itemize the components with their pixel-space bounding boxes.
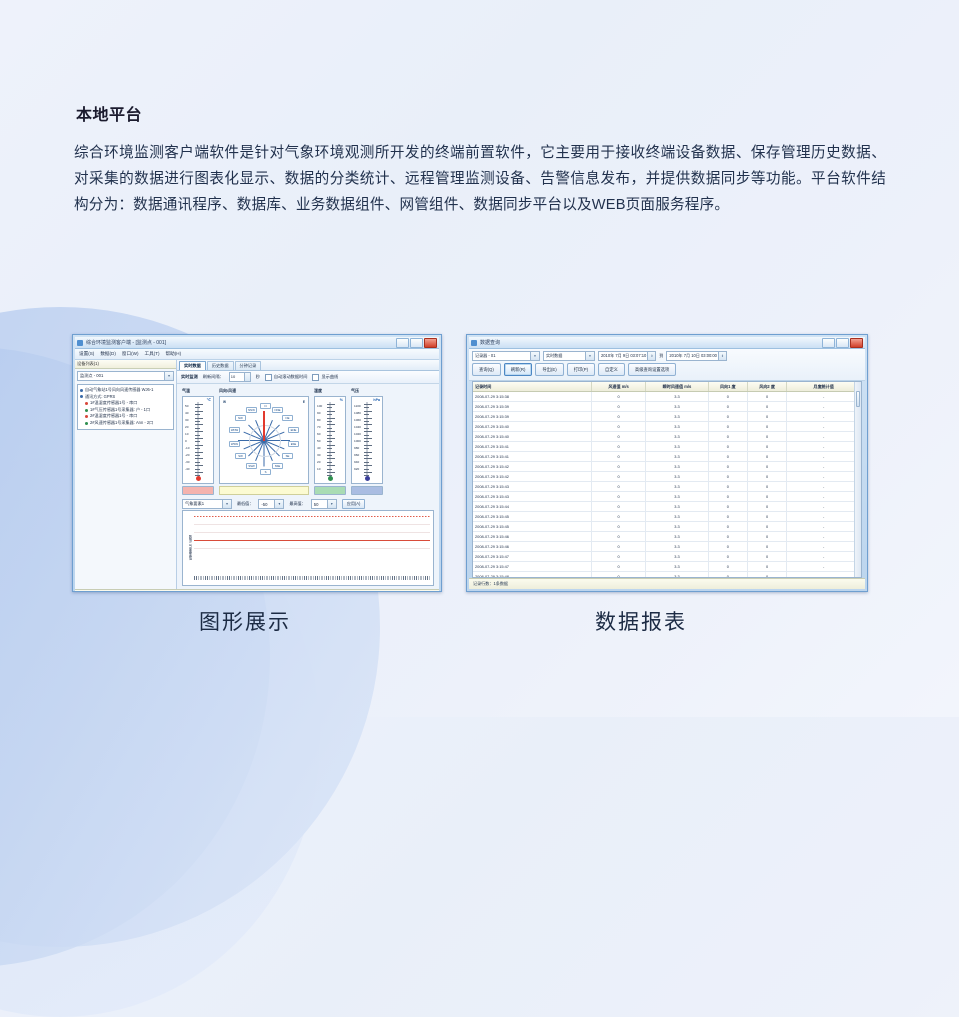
recorder-select-value: 记录器 - 01 [475,353,495,358]
tree-item[interactable]: 1#温湿度传感器1号 - 串口 [80,400,171,407]
table-cell: - [787,512,861,521]
table-cell: 0 [592,522,647,531]
menu-item-window[interactable]: 窗口(W) [122,351,139,357]
device-tree[interactable]: 自动气象站1号风向风速传感器 WJ6-1 通讯方式: GPRS 1#温湿度传感器… [77,384,174,430]
thermometer-tick [327,435,332,436]
thermometer-tick [364,469,369,470]
tick-label: 1060 [354,419,361,422]
column-header-time[interactable]: 记录时间 [473,382,592,391]
tree-item[interactable]: 通讯方式: GPRS [80,394,171,401]
table-cell: - [787,572,861,577]
table-cell: - [787,452,861,461]
app-icon [471,340,477,346]
table-cell: 3.3 [646,432,708,441]
table-cell: 0 [709,392,748,401]
table-cell: 0 [592,532,647,541]
tick-label: 960 [354,454,359,457]
table-cell: 0 [748,472,787,481]
chevron-down-icon[interactable]: ▾ [585,352,594,360]
station-select[interactable]: 监测点 - 001 ▾ [77,371,174,381]
status-dot-icon [85,422,88,425]
table-cell: 3.3 [646,502,708,511]
minimize-icon[interactable] [396,338,409,348]
custom-button[interactable]: 自定义 [598,363,625,376]
caption-graph-display: 图形展示 [199,606,291,636]
tick-label: 60 [317,433,320,436]
table-cell: 0 [592,512,647,521]
auto-scroll-label: 自动滚动数据时间 [274,374,308,380]
table-cell: 3.3 [646,412,708,421]
table-cell: 2008-07-29 3:15:39 [473,412,592,421]
menu-item-help[interactable]: 帮助(H) [166,351,182,357]
rose-corner-label: W [223,400,226,404]
caption-data-report: 数据报表 [595,606,687,636]
graph-window[interactable]: 综合环境监测客户端 - [监测点 - 001] 设置(S) 数据(D) 窗口(W… [72,334,442,592]
chevron-down-icon[interactable]: ▾ [327,500,336,508]
graph-main-panel: 实时数据 历史数据 分钟记录 实时监测 刷新间隔： 10 秒 自动滚动数据时间 [177,360,439,589]
thermometer-tick [327,404,335,405]
table-cell: 0 [592,442,647,451]
thermometer-tick [195,458,203,459]
app-icon [77,340,83,346]
table-row[interactable]: 2008-07-29 3:15:3803.300- [473,392,861,402]
thermometer-tick [195,465,203,466]
table-row[interactable]: 2008-07-29 3:15:4603.300- [473,532,861,542]
graph-tabs[interactable]: 实时数据 历史数据 分钟记录 [177,360,439,371]
dir-pill: NNE [272,407,283,413]
tick-label: 1080 [354,412,361,415]
thermometer-tick [327,445,335,446]
thermometer-tick [195,407,200,408]
thermometer-tick [195,404,203,405]
table-row[interactable]: 2008-07-29 3:15:4203.300- [473,472,861,482]
thermometer-tick [364,435,369,436]
table-cell: 0 [709,572,748,577]
chevron-down-icon[interactable]: ▾ [222,500,231,508]
chart-apply-button[interactable]: 应用(A) [342,499,366,509]
minimize-icon[interactable] [822,338,835,348]
grid-body[interactable]: 2008-07-29 3:15:3803.300-2008-07-29 3:15… [473,392,861,577]
tick-label: -30 [185,461,189,464]
graph-body: 设备列表(1) 监测点 - 001 ▾ 自动气象站1号风向风速传感器 WJ6-1… [75,360,439,589]
thermometer-tick [364,452,372,453]
thermometer-tick [195,469,200,470]
table-row[interactable]: 2008-07-29 3:15:4503.300- [473,522,861,532]
table-row[interactable]: 2008-07-29 3:15:4503.300- [473,512,861,522]
thermometer-tick [364,424,372,425]
window-controls[interactable] [822,338,863,348]
thermometer-tick [364,414,369,415]
table-cell: 3.3 [646,472,708,481]
table-cell: 0 [709,422,748,431]
temperature-thermometer: ℃ 50 40 30 20 10 0 -10 -20 -30 -40 [182,396,214,484]
thermometer-tick [327,431,335,432]
report-status-text: 记录行数：1条数据 [473,581,508,587]
tree-item[interactable]: 自动气象站1号风向风速传感器 WJ6-1 [80,387,171,394]
column-header-monthly[interactable]: 月度统计值 [787,382,861,391]
table-cell: - [787,552,861,561]
chart-max-label: 最高值： [289,501,305,507]
table-cell: 0 [709,502,748,511]
wind-gauge: 风向/风速 W E N NNE NE ENE ESE SE SSE S [219,388,309,495]
thermometer-tick [195,452,203,453]
end-date-input[interactable]: 2010年 7月 10日 03:00:00 ⇕ [666,351,727,361]
table-cell: 0 [748,402,787,411]
tree-item-label: 通讯方式: GPRS [85,394,115,401]
table-row[interactable]: 2008-07-29 3:15:4003.300- [473,432,861,442]
thermometer-tick [327,441,332,442]
thermometer-tick [195,475,200,476]
table-cell: 2008-07-29 3:15:43 [473,492,592,501]
table-cell: 0 [592,422,647,431]
humidity-gauge: 湿度 % 100 90 80 70 60 50 40 30 20 [314,388,346,495]
thermometer-tick [364,438,372,439]
table-cell: 0 [709,472,748,481]
interval-stepper[interactable]: 10 [229,372,251,382]
advanced-settings-button[interactable]: 高级查询设置选项 [628,363,676,376]
tick-label: 50 [185,405,188,408]
table-cell: 0 [709,462,748,471]
menu-item-settings[interactable]: 设置(S) [79,351,94,357]
tree-item-label: 1#温湿度传感器1号 - 串口 [90,400,137,407]
table-cell: 0 [748,502,787,511]
report-window-title: 数据查询 [480,339,500,346]
report-data-grid[interactable]: 记录时间 风速值 m/s 瞬时风速值 m/s 风向1 度 风向2 度 月度统计值… [472,381,862,578]
chart-min-label: 最低值： [237,501,253,507]
date-range-label: 到 [659,353,663,359]
chevron-down-icon[interactable]: ▾ [274,500,283,508]
chart-max-value: 50 [314,502,319,507]
auto-scroll-checkbox[interactable]: 自动滚动数据时间 [265,374,308,381]
table-cell: 3.3 [646,402,708,411]
table-cell: 2008-07-29 3:15:44 [473,502,592,511]
thermometer-tick [364,448,369,449]
table-cell: - [787,532,861,541]
table-row[interactable]: 2008-07-29 3:15:4103.300- [473,442,861,452]
table-cell: 0 [748,542,787,551]
chart-min-input[interactable]: -50 ▾ [258,499,284,509]
table-cell: 0 [709,482,748,491]
table-cell: 2008-07-29 3:15:46 [473,532,592,541]
wind-rose: W E N NNE NE ENE ESE SE SSE S SSW SW [219,396,309,484]
thermometer-tick [327,462,332,463]
thermometer-tick [195,421,200,422]
scrollbar-thumb[interactable] [856,391,860,407]
table-cell: 2008-07-29 3:15:40 [473,432,592,441]
table-cell: 0 [592,462,647,471]
status-dot-icon [85,415,88,418]
chevron-down-icon[interactable]: ▾ [530,352,539,360]
dir-pill: WSW [229,441,240,447]
tree-item-label: 2#风速传感器1号采集器: Ann - 2口 [90,420,153,427]
table-cell: 0 [709,552,748,561]
temperature-unit: ℃ [207,398,211,402]
report-window-titlebar[interactable]: 数据查询 [469,337,865,349]
chart-max-input[interactable]: 50 ▾ [311,499,337,509]
dir-pill: WNW [229,427,240,433]
chart-x-axis [194,576,430,580]
table-row[interactable]: 2008-07-29 3:15:4003.300- [473,422,861,432]
table-cell: - [787,472,861,481]
table-cell: - [787,412,861,421]
wind-needle [263,411,264,441]
thermometer-tick [195,445,203,446]
thermometer-tick [364,418,372,419]
dir-pill: NNW [246,407,257,413]
trend-chart[interactable]: 数值 / 气象要素值 [182,510,434,586]
table-cell: 0 [592,492,647,501]
tick-label: 920 [354,468,359,471]
table-row[interactable]: 2008-07-29 3:15:4703.300- [473,562,861,572]
table-cell: 2008-07-29 3:15:43 [473,482,592,491]
graph-toolbar[interactable]: 实时监测 刷新间隔： 10 秒 自动滚动数据时间 显示曲线 [177,371,439,384]
table-row[interactable]: 2008-07-29 3:15:4803.300- [473,572,861,577]
table-cell: 0 [748,412,787,421]
table-cell: 2008-07-29 3:15:39 [473,402,592,411]
column-header-gust[interactable]: 瞬时风速值 m/s [646,382,708,391]
table-cell: 0 [748,392,787,401]
tick-label: -40 [185,468,189,471]
table-cell: 2008-07-29 3:15:45 [473,512,592,521]
interval-value[interactable]: 10 [230,373,244,381]
tick-label: 1000 [354,440,361,443]
chart-controls[interactable]: 气象要素1 ▾ 最低值： -50 ▾ 最高值： 50 ▾ [182,498,434,510]
pressure-gauge: 气压 hPa 1100 1080 1060 1040 1020 1000 980… [351,388,383,495]
thermometer-tick [364,421,369,422]
tab-minute-records[interactable]: 分钟记录 [235,361,262,370]
graph-window-titlebar[interactable]: 综合环境监测客户端 - [监测点 - 001] [75,337,439,349]
table-cell: 0 [709,492,748,501]
table-cell: 3.3 [646,552,708,561]
humidity-thermometer: % 100 90 80 70 60 50 40 30 20 10 [314,396,346,484]
table-cell: - [787,432,861,441]
table-cell: 0 [592,572,647,577]
toolbar-title: 实时监测 [181,374,198,380]
dir-pill: SE [282,453,293,459]
dir-pill: SSW [246,463,257,469]
thermometer-tick [364,462,369,463]
tick-label: -20 [185,454,189,457]
table-row[interactable]: 2008-07-29 3:15:3903.300- [473,402,861,412]
tick-label: 0 [185,440,187,443]
table-cell: 0 [709,512,748,521]
show-curve-checkbox[interactable]: 显示曲线 [312,374,338,381]
start-date-input[interactable]: 2010年 7月 9日 03:07:10 ⇕ [598,351,656,361]
maximize-icon[interactable] [410,338,423,348]
table-cell: - [787,402,861,411]
window-controls[interactable] [396,338,437,348]
chevron-down-icon[interactable]: ▾ [164,372,173,380]
table-cell: 3.3 [646,492,708,501]
data-type-select-value: 实时数据 [546,353,562,358]
tree-item[interactable]: 1#气压传感器1号采集器: 户 - 1口 [80,407,171,414]
table-cell: 3.3 [646,542,708,551]
dir-pill: NE [282,415,293,421]
thermometer-bulb [196,476,201,481]
table-cell: 2008-07-29 3:15:48 [473,572,592,577]
table-cell: 3.3 [646,512,708,521]
tick-label: 20 [185,426,188,429]
dir-pill: S [260,469,271,475]
table-cell: 2008-07-29 3:15:47 [473,562,592,571]
status-dot-icon [80,395,83,398]
thermometer-tick [327,428,332,429]
tick-label: 20 [317,461,320,464]
table-row[interactable]: 2008-07-29 3:15:4303.300- [473,492,861,502]
table-row[interactable]: 2008-07-29 3:15:4103.300- [473,452,861,462]
tick-label: 50 [317,440,320,443]
table-row[interactable]: 2008-07-29 3:15:3903.300- [473,412,861,422]
pressure-value-bar [351,486,383,495]
rose-ring [249,425,281,457]
table-cell: - [787,442,861,451]
dir-pill: NW [235,415,246,421]
stepper-buttons-icon[interactable] [244,373,250,381]
tick-label: 40 [185,412,188,415]
thermometer-tick [327,465,335,466]
table-cell: 2008-07-29 3:15:45 [473,522,592,531]
report-window[interactable]: 数据查询 记录器 - 01 ▾ 实时数据 ▾ 2010年 7月 9日 03:07… [466,334,868,592]
maximize-icon[interactable] [836,338,849,348]
spinner-icon[interactable]: ⇕ [718,352,726,360]
export-button[interactable]: 导出(E) [535,363,563,376]
refresh-button[interactable]: 刷新(R) [504,363,533,376]
recorder-select[interactable]: 记录器 - 01 ▾ [472,351,540,361]
table-cell: 0 [592,472,647,481]
thermometer-tick [195,462,200,463]
table-cell: 2008-07-29 3:15:41 [473,442,592,451]
thermometer-tick [195,418,203,419]
thermometer-tick [195,441,200,442]
humidity-gauge-label: 湿度 [314,388,346,394]
report-button-row: 查询(Q) 刷新(R) 导出(E) 打印(P) 自定义 高级查询设置选项 [472,363,862,376]
table-cell: 0 [592,562,647,571]
start-date-value: 2010年 7月 9日 03:07:10 [601,353,646,358]
data-type-select[interactable]: 实时数据 ▾ [543,351,595,361]
spinner-icon[interactable]: ⇕ [647,352,655,360]
tick-label: 40 [317,447,320,450]
graph-window-title: 综合环境监测客户端 - [监测点 - 001] [86,339,166,346]
tree-item-label: 自动气象站1号风向风速传感器 WJ6-1 [85,387,153,394]
tab-realtime[interactable]: 实时数据 [179,361,206,370]
table-cell: 0 [709,542,748,551]
thermometer-tick [364,404,372,405]
thermometer-bulb [328,476,333,481]
thermometer-tick [195,438,203,439]
tick-label: 10 [185,433,188,436]
tab-history[interactable]: 历史数据 [207,361,234,370]
wind-gauge-label: 风向/风速 [219,388,309,394]
status-dot-icon [85,409,88,412]
table-cell: 0 [592,552,647,561]
table-cell: 3.3 [646,562,708,571]
table-cell: - [787,492,861,501]
series-select-value: 气象要素1 [185,501,204,507]
menu-item-tools[interactable]: 工具(T) [144,351,159,357]
column-header-windspeed[interactable]: 风速值 m/s [592,382,647,391]
thermometer-tick [327,421,332,422]
table-row[interactable]: 2008-07-29 3:15:4403.300- [473,502,861,512]
table-cell: 0 [748,452,787,461]
graph-menubar[interactable]: 设置(S) 数据(D) 窗口(W) 工具(T) 帮助(H) [75,349,439,360]
checkbox-icon[interactable] [265,374,272,381]
status-dot-icon [80,389,83,392]
table-row[interactable]: 2008-07-29 3:15:4703.300- [473,552,861,562]
print-button[interactable]: 打印(P) [567,363,595,376]
table-row[interactable]: 2008-07-29 3:15:4603.300- [473,542,861,552]
thermometer-tick [364,458,372,459]
thermometer-tick [327,469,332,470]
page-title: 本地平台 [76,101,142,125]
dir-pill: ESE [288,441,299,447]
thermometer-tick [364,407,369,408]
table-cell: 2008-07-29 3:15:41 [473,452,592,461]
report-filter-row-1: 记录器 - 01 ▾ 实时数据 ▾ 2010年 7月 9日 03:07:10 ⇕… [472,351,862,361]
table-row[interactable]: 2008-07-29 3:15:4303.300- [473,482,861,492]
tree-item[interactable]: 2#温湿度传感器1号 - 串口 [80,413,171,420]
thermometer-tick [327,452,335,453]
table-cell: 0 [709,432,748,441]
menu-item-data[interactable]: 数据(D) [100,351,116,357]
table-cell: 3.3 [646,482,708,491]
query-button[interactable]: 查询(Q) [472,363,501,376]
series-select[interactable]: 气象要素1 ▾ [182,499,232,509]
table-cell: 0 [748,432,787,441]
table-cell: - [787,462,861,471]
column-header-dir1[interactable]: 风向1 度 [709,382,748,391]
close-icon[interactable] [424,338,437,348]
tick-label: 80 [317,419,320,422]
chart-gridline [194,524,430,525]
interval-label: 刷新间隔： [203,374,224,380]
thermometer-tick [327,424,335,425]
tick-label: 1100 [354,405,361,408]
thermometer-tick [364,411,372,412]
end-date-value: 2010年 7月 10日 03:00:00 [669,353,717,358]
table-cell: 0 [748,532,787,541]
grid-scrollbar[interactable] [854,382,861,577]
table-cell: 0 [592,542,647,551]
graph-status-bar: 操作就绪 监测点：station01 采集器01 气象站点：监测点 - 001 [75,589,439,592]
thermometer-tick [195,411,203,412]
thermometer-tick [195,431,203,432]
table-row[interactable]: 2008-07-29 3:15:4203.300- [473,462,861,472]
table-cell: 3.3 [646,572,708,577]
column-header-dir2[interactable]: 风向2 度 [748,382,787,391]
table-cell: 0 [709,412,748,421]
tick-label: 30 [185,419,188,422]
close-icon[interactable] [850,338,863,348]
table-cell: - [787,502,861,511]
temperature-gauge: 气温 ℃ 50 40 30 20 10 0 -10 -20 -3 [182,388,214,495]
tree-item[interactable]: 2#风速传感器1号采集器: Ann - 2口 [80,420,171,427]
thermometer-tick [195,448,200,449]
thermometer-tick [327,411,335,412]
tick-label: 90 [317,412,320,415]
thermometer-tick [327,448,332,449]
checkbox-icon[interactable] [312,374,319,381]
thermometer-tick [195,428,200,429]
tick-label: 70 [317,426,320,429]
table-cell: 0 [592,482,647,491]
thermometer-tick [327,475,332,476]
wind-value-bar [219,486,309,495]
table-cell: 0 [592,452,647,461]
report-status-bar: 记录行数：1条数据 [469,578,865,589]
grid-header-row[interactable]: 记录时间 风速值 m/s 瞬时风速值 m/s 风向1 度 风向2 度 月度统计值 [473,382,861,392]
table-cell: 0 [748,552,787,561]
table-cell: 0 [709,452,748,461]
